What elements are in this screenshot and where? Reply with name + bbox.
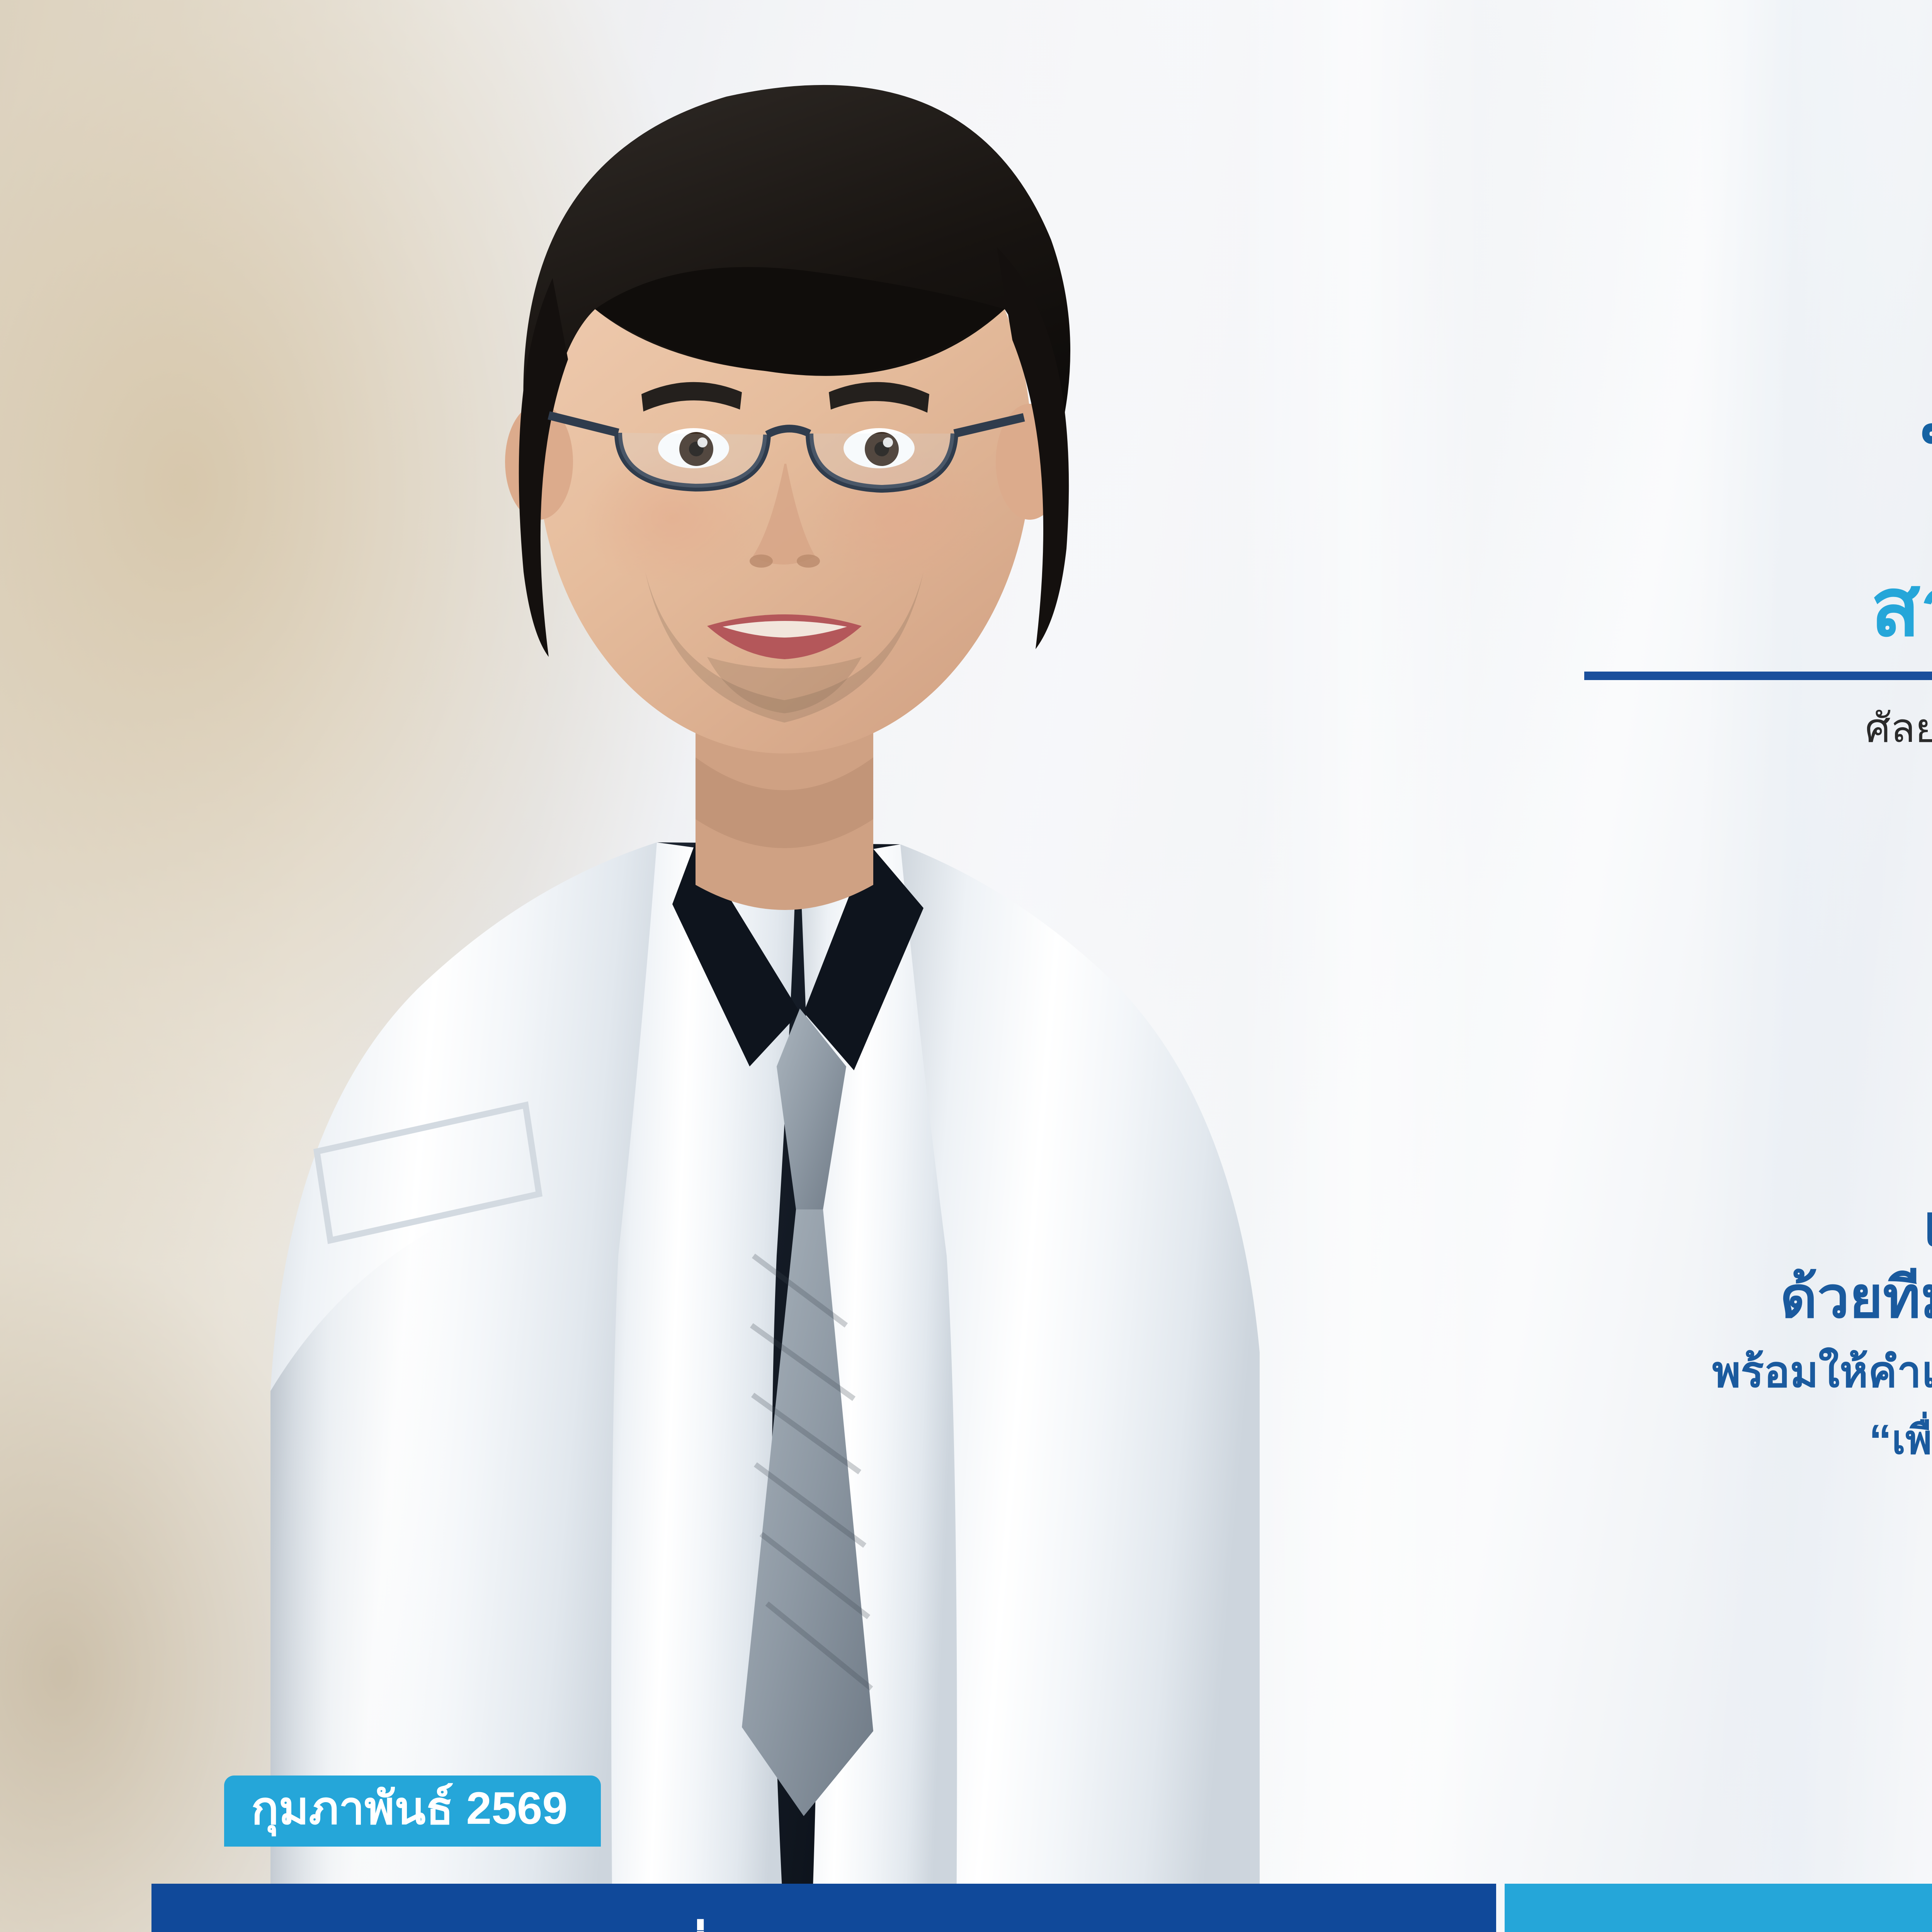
schedule-table: วันที่ออกตรวจ <box>151 1884 1932 1932</box>
tagline-line-2: ด้วยทีมแพทย์เฉพาะทางเวชศาสตร์การกีฬา <box>1557 1262 1932 1334</box>
tagline-line-1: เข้าใจทุกอาการเจ็บของนักกีฬา <box>1557 1190 1932 1262</box>
quote-text: เพื่อให้ร่างกายคุณกลับมาฟิตและพร้อมลุยอี… <box>1892 1418 1932 1463</box>
quote-open-mark: “ <box>1869 1415 1892 1466</box>
doctor-name: นพ.นวพันธ์ วอกลาง <box>1557 394 1932 495</box>
schedule-times-header: เวลาออกตรวจ <box>1505 1884 1932 1932</box>
tagline-line-3: พร้อมให้คำแนะนำและการรักษาที่เหมาะสมกับไ… <box>1557 1343 1932 1401</box>
schedule-days-column: วันที่ออกตรวจ <box>151 1884 1496 1932</box>
doctor-portrait-photo <box>70 0 1577 1932</box>
doctor-specialty: แพทย์เฉพาะทางกระดูกและข้อ <box>1557 500 1932 564</box>
doctor-field: สาขาเวชศาสตร์การกีฬา <box>1557 561 1932 654</box>
schedule-days-header: วันที่ออกตรวจ <box>151 1884 1496 1932</box>
tagline-quote: “เพื่อให้ร่างกายคุณกลับมาฟิตและพร้อมลุยอ… <box>1557 1410 1932 1472</box>
month-badge: กุมภาพันธ์ 2569 <box>224 1776 601 1847</box>
tagline-block: เข้าใจทุกอาการเจ็บของนักกีฬา ด้วยทีมแพทย… <box>1557 1190 1932 1472</box>
divider-rule <box>1584 672 1932 680</box>
schedule-days-header-label: วันที่ออกตรวจ <box>582 1912 984 1932</box>
doctor-license: ศัลยกรรมกระดูกและข้อ เลขที่ใบอนุญาต: ว.2… <box>1557 702 1932 755</box>
doctor-info-panel: นพ.นวพันธ์ วอกลาง แพทย์เฉพาะทางกระดูกและ… <box>1557 394 1932 755</box>
schedule-times-column: เวลาออกตรวจ 08.00 - 16.00 น. 08.00 - 13.… <box>1505 1884 1932 1932</box>
